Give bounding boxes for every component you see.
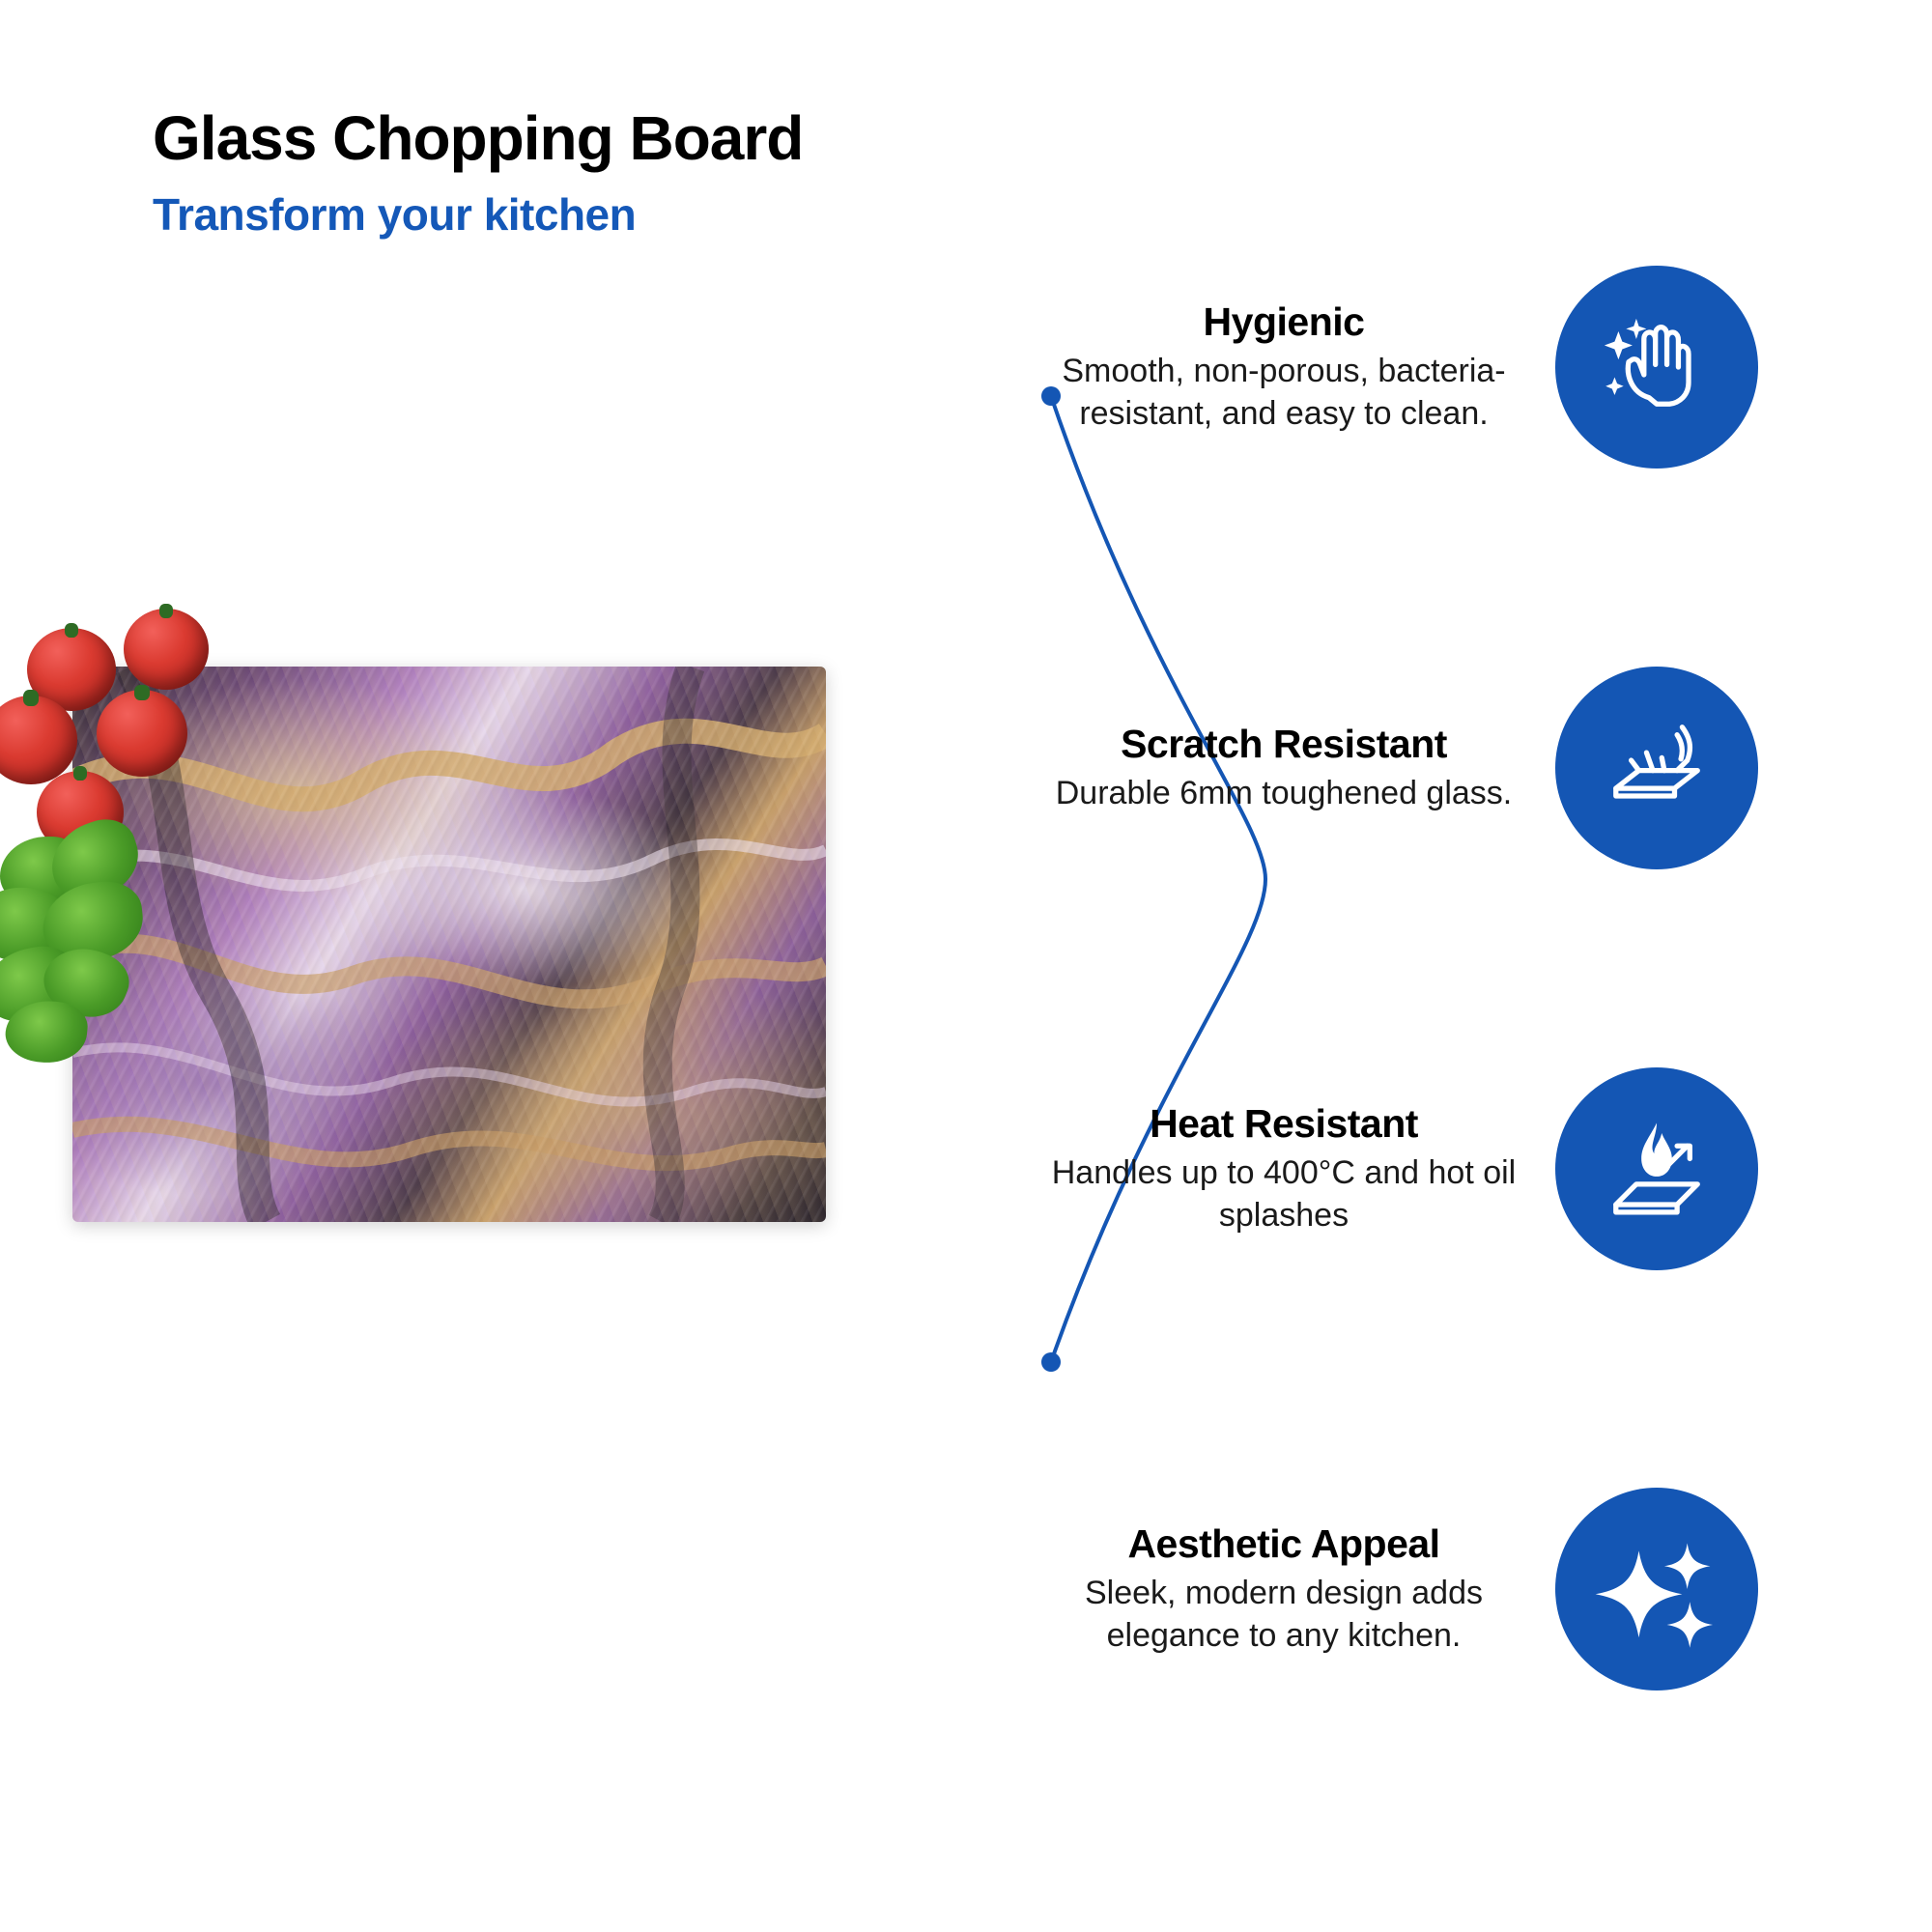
feature-title: Aesthetic Appeal [1037,1521,1530,1567]
feature-aesthetic-appeal: Aesthetic Appeal Sleek, modern design ad… [1024,1488,1758,1690]
marble-veins [72,667,826,1222]
feature-scratch-resistant: Scratch Resistant Durable 6mm toughened … [1024,667,1758,869]
feature-text: Aesthetic Appeal Sleek, modern design ad… [1037,1521,1555,1657]
flame-heat-icon [1555,1067,1758,1270]
feature-title: Scratch Resistant [1037,722,1530,767]
header: Glass Chopping Board Transform your kitc… [153,106,1119,241]
feature-text: Heat Resistant Handles up to 400°C and h… [1037,1101,1555,1236]
feature-text: Scratch Resistant Durable 6mm toughened … [1037,722,1555,815]
feature-description: Durable 6mm toughened glass. [1037,773,1530,815]
feature-title: Hygienic [1037,299,1530,345]
feature-description: Handles up to 400°C and hot oil splashes [1037,1152,1530,1236]
chopping-board-image [72,667,826,1222]
feature-description: Smooth, non-porous, bacteria-resistant, … [1037,351,1530,435]
hand-sparkle-icon [1555,266,1758,469]
feature-text: Hygienic Smooth, non-porous, bacteria-re… [1037,299,1555,435]
page-subtitle: Transform your kitchen [153,188,1119,241]
sparkles-icon [1555,1488,1758,1690]
cherry-tomato [124,609,209,690]
feature-heat-resistant: Heat Resistant Handles up to 400°C and h… [1024,1067,1758,1270]
page-title: Glass Chopping Board [153,106,1119,171]
feature-hygienic: Hygienic Smooth, non-porous, bacteria-re… [1024,266,1758,469]
cherry-tomato [97,690,187,777]
product-image-area [0,609,869,1285]
feature-description: Sleek, modern design adds elegance to an… [1037,1573,1530,1657]
knife-on-board-icon [1555,667,1758,869]
feature-title: Heat Resistant [1037,1101,1530,1147]
